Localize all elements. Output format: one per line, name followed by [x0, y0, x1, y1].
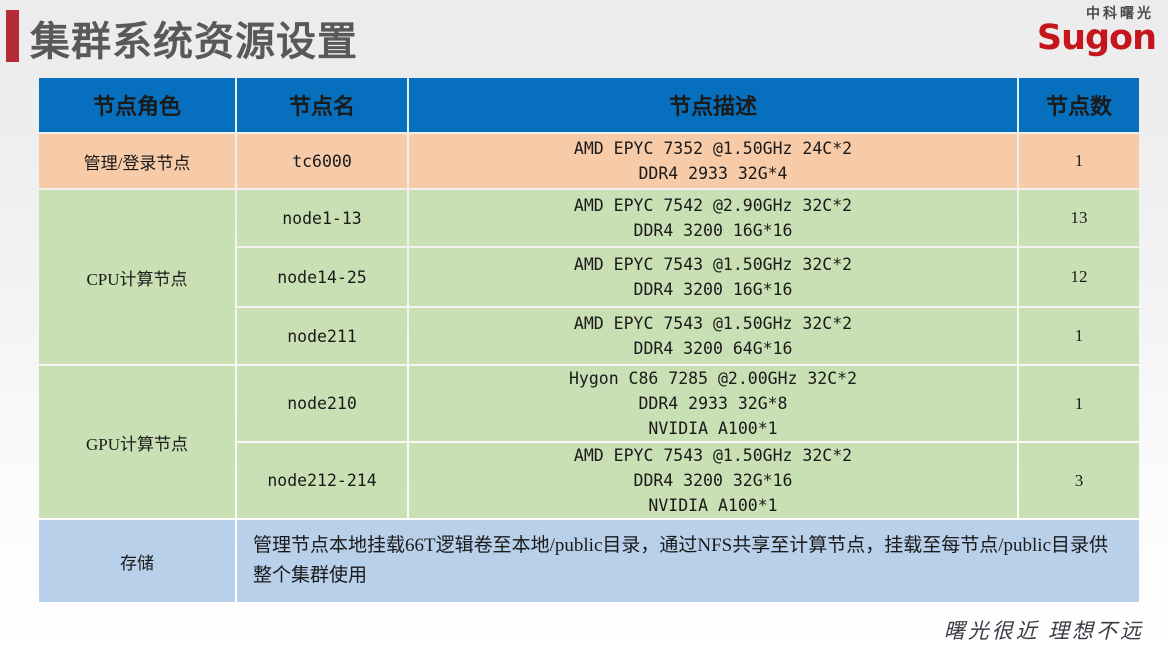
sugon-logo: 中科曙光 Sugon: [981, 6, 1156, 64]
desc-line: AMD EPYC 7542 @2.90GHz 32C*2: [409, 193, 1017, 218]
table-row: 管理/登录节点 tc6000 AMD EPYC 7352 @1.50GHz 24…: [39, 134, 1139, 188]
column-header-node-description: 节点描述: [409, 78, 1017, 132]
desc-line: DDR4 3200 16G*16: [409, 277, 1017, 302]
desc-line: NVIDIA A100*1: [409, 493, 1017, 518]
desc-line: DDR4 3200 32G*16: [409, 468, 1017, 493]
cell-node-count: 1: [1019, 134, 1139, 188]
table-row-storage: 存储 管理节点本地挂载66T逻辑卷至本地/public目录，通过NFS共享至计算…: [39, 520, 1139, 602]
cell-node-count: 12: [1019, 248, 1139, 306]
cluster-resource-table: 节点角色 节点名 节点描述 节点数 管理/登录节点 tc6000 AMD EPY…: [37, 76, 1141, 604]
desc-line: DDR4 3200 64G*16: [409, 336, 1017, 361]
cell-node-count: 1: [1019, 366, 1139, 441]
cell-node-count: 13: [1019, 190, 1139, 246]
cell-node-role: CPU计算节点: [39, 190, 235, 364]
desc-line: NVIDIA A100*1: [409, 416, 1017, 441]
cell-node-description: AMD EPYC 7543 @1.50GHz 32C*2 DDR4 3200 6…: [409, 308, 1017, 364]
cell-node-count: 3: [1019, 443, 1139, 518]
title-accent-bar: [6, 10, 19, 62]
desc-line: AMD EPYC 7543 @1.50GHz 32C*2: [409, 252, 1017, 277]
table-row: GPU计算节点 node210 Hygon C86 7285 @2.00GHz …: [39, 366, 1139, 441]
cell-node-description: AMD EPYC 7543 @1.50GHz 32C*2 DDR4 3200 1…: [409, 248, 1017, 306]
cell-node-count: 1: [1019, 308, 1139, 364]
cell-node-role: 管理/登录节点: [39, 134, 235, 188]
column-header-node-name: 节点名: [237, 78, 407, 132]
desc-line: DDR4 2933 32G*8: [409, 391, 1017, 416]
page-title: 集群系统资源设置: [30, 9, 358, 67]
cell-node-role: GPU计算节点: [39, 366, 235, 518]
cell-node-description: AMD EPYC 7542 @2.90GHz 32C*2 DDR4 3200 1…: [409, 190, 1017, 246]
column-header-node-role: 节点角色: [39, 78, 235, 132]
cell-node-description: AMD EPYC 7543 @1.50GHz 32C*2 DDR4 3200 3…: [409, 443, 1017, 518]
desc-line: Hygon C86 7285 @2.00GHz 32C*2: [409, 366, 1017, 391]
cell-node-name: node211: [237, 308, 407, 364]
cell-node-name: node1-13: [237, 190, 407, 246]
cell-node-description: Hygon C86 7285 @2.00GHz 32C*2 DDR4 2933 …: [409, 366, 1017, 441]
table-row: CPU计算节点 node1-13 AMD EPYC 7542 @2.90GHz …: [39, 190, 1139, 246]
desc-line: DDR4 3200 16G*16: [409, 218, 1017, 243]
cell-node-name: tc6000: [237, 134, 407, 188]
desc-line: AMD EPYC 7543 @1.50GHz 32C*2: [409, 311, 1017, 336]
table-header-row: 节点角色 节点名 节点描述 节点数: [39, 78, 1139, 132]
cell-node-name: node14-25: [237, 248, 407, 306]
footer-slogan: 曙光很近 理想不远: [944, 615, 1144, 645]
column-header-node-count: 节点数: [1019, 78, 1139, 132]
logo-wordmark: Sugon: [981, 20, 1156, 56]
page-header: 集群系统资源设置 中科曙光 Sugon: [0, 0, 1168, 70]
cell-node-description: AMD EPYC 7352 @1.50GHz 24C*2 DDR4 2933 3…: [409, 134, 1017, 188]
cell-node-role: 存储: [39, 520, 235, 602]
table-body: 管理/登录节点 tc6000 AMD EPYC 7352 @1.50GHz 24…: [39, 134, 1139, 602]
cell-node-name: node212-214: [237, 443, 407, 518]
storage-description-text: 管理节点本地挂载66T逻辑卷至本地/public目录，通过NFS共享至计算节点，…: [237, 525, 1139, 597]
desc-line: DDR4 2933 32G*4: [409, 161, 1017, 186]
desc-line: AMD EPYC 7543 @1.50GHz 32C*2: [409, 443, 1017, 468]
cell-node-name: node210: [237, 366, 407, 441]
cell-storage-description: 管理节点本地挂载66T逻辑卷至本地/public目录，通过NFS共享至计算节点，…: [237, 520, 1139, 602]
desc-line: AMD EPYC 7352 @1.50GHz 24C*2: [409, 136, 1017, 161]
